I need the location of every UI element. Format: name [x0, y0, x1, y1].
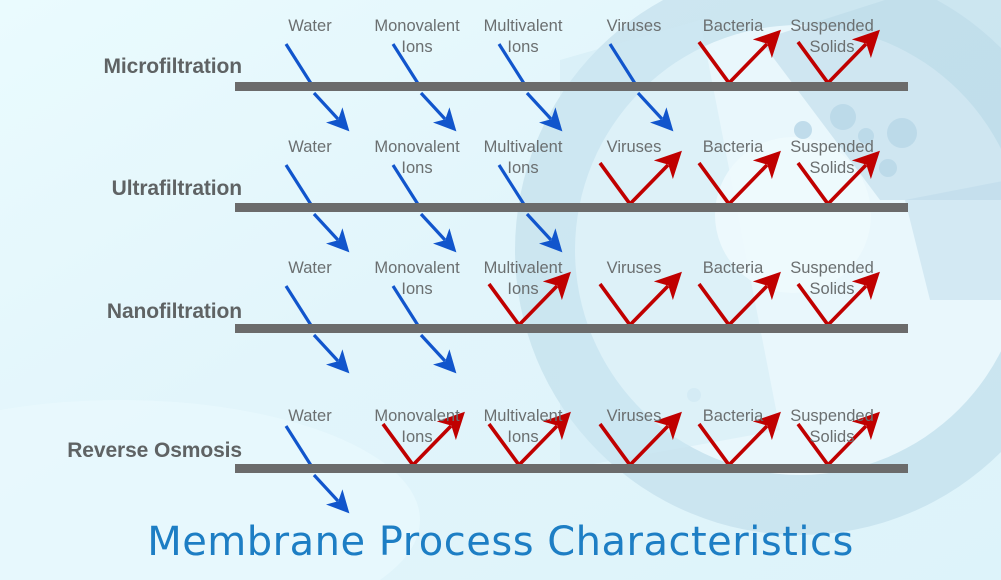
species-label-line2: Ions [374, 279, 459, 300]
species-label-line1: Water [288, 258, 331, 279]
membrane-process-diagram: MicrofiltrationUltrafiltrationNanofiltra… [0, 0, 1001, 580]
species-label-ultrafiltration-suspended-solids: SuspendedSolids [790, 137, 874, 179]
reject-arrow-incoming-nanofiltration-viruses [600, 284, 630, 325]
reject-arrow-outgoing-reverse-osmosis-bacteria [729, 426, 767, 465]
pass-arrow-shaft-in-reverse-osmosis-water [286, 426, 312, 467]
species-label-line1: Viruses [607, 258, 662, 279]
process-label-nanofiltration: Nanofiltration [0, 300, 242, 326]
process-label-text: Reverse Osmosis [67, 439, 242, 463]
process-label-microfiltration: Microfiltration [0, 55, 242, 81]
species-label-line1: Suspended [790, 137, 874, 158]
species-label-line1: Bacteria [703, 16, 764, 37]
species-label-nanofiltration-viruses: Viruses [607, 258, 662, 279]
reject-arrow-incoming-reverse-osmosis-bacteria [699, 424, 729, 465]
species-label-microfiltration-suspended-solids: SuspendedSolids [790, 16, 874, 58]
species-label-line2: Solids [790, 158, 874, 179]
species-label-line1: Multivalent [484, 137, 563, 158]
reject-arrow-incoming-microfiltration-bacteria [699, 42, 729, 83]
species-label-line1: Multivalent [484, 16, 563, 37]
reject-arrow-incoming-reverse-osmosis-viruses [600, 424, 630, 465]
reject-arrow-incoming-ultrafiltration-viruses [600, 163, 630, 204]
pass-arrow-shaft-out-ultrafiltration-monovalent-ions [421, 214, 445, 240]
species-label-line2: Solids [790, 37, 874, 58]
species-label-line2: Ions [374, 37, 459, 58]
process-label-ultrafiltration: Ultrafiltration [0, 177, 242, 203]
reject-arrow-outgoing-nanofiltration-viruses [630, 286, 668, 325]
figure-title: Membrane Process Characteristics [0, 519, 1001, 565]
species-label-ultrafiltration-water: Water [288, 137, 331, 158]
species-label-line1: Multivalent [484, 258, 563, 279]
species-label-line1: Monovalent [374, 406, 459, 427]
species-label-microfiltration-multivalent-ions: MultivalentIons [484, 16, 563, 58]
species-label-line1: Multivalent [484, 406, 563, 427]
species-label-microfiltration-bacteria: Bacteria [703, 16, 764, 37]
species-label-microfiltration-water: Water [288, 16, 331, 37]
species-label-line1: Suspended [790, 258, 874, 279]
reject-arrow-incoming-nanofiltration-bacteria [699, 284, 729, 325]
species-label-nanofiltration-monovalent-ions: MonovalentIons [374, 258, 459, 300]
pass-arrow-shaft-out-microfiltration-monovalent-ions [421, 93, 445, 119]
species-label-line1: Suspended [790, 406, 874, 427]
species-label-line2: Ions [484, 158, 563, 179]
pass-arrow-shaft-out-microfiltration-multivalent-ions [527, 93, 551, 119]
membrane-bar-microfiltration [235, 82, 908, 91]
membrane-bar-nanofiltration [235, 324, 908, 333]
species-label-ultrafiltration-bacteria: Bacteria [703, 137, 764, 158]
species-label-nanofiltration-suspended-solids: SuspendedSolids [790, 258, 874, 300]
species-label-reverse-osmosis-viruses: Viruses [607, 406, 662, 427]
species-label-microfiltration-viruses: Viruses [607, 16, 662, 37]
species-label-line2: Ions [484, 427, 563, 448]
species-label-line1: Viruses [607, 137, 662, 158]
process-label-text: Microfiltration [104, 55, 243, 79]
membrane-bar-reverse-osmosis [235, 464, 908, 473]
process-label-text: Nanofiltration [107, 300, 242, 324]
species-label-line2: Solids [790, 279, 874, 300]
species-label-reverse-osmosis-water: Water [288, 406, 331, 427]
species-label-reverse-osmosis-multivalent-ions: MultivalentIons [484, 406, 563, 448]
species-label-reverse-osmosis-suspended-solids: SuspendedSolids [790, 406, 874, 448]
reject-arrow-outgoing-ultrafiltration-viruses [630, 165, 668, 204]
species-label-line1: Water [288, 16, 331, 37]
species-label-reverse-osmosis-monovalent-ions: MonovalentIons [374, 406, 459, 448]
reject-arrow-outgoing-reverse-osmosis-viruses [630, 426, 668, 465]
reject-arrow-outgoing-ultrafiltration-bacteria [729, 165, 767, 204]
species-label-line1: Water [288, 137, 331, 158]
pass-arrow-shaft-in-ultrafiltration-water [286, 165, 312, 206]
species-label-line1: Bacteria [703, 406, 764, 427]
species-label-line2: Ions [374, 427, 459, 448]
species-label-line1: Water [288, 406, 331, 427]
species-label-line1: Viruses [607, 16, 662, 37]
species-label-line1: Monovalent [374, 16, 459, 37]
process-label-reverse-osmosis: Reverse Osmosis [0, 439, 242, 465]
pass-arrow-shaft-out-nanofiltration-monovalent-ions [421, 335, 445, 361]
species-label-line1: Monovalent [374, 137, 459, 158]
species-label-reverse-osmosis-bacteria: Bacteria [703, 406, 764, 427]
pass-arrow-shaft-out-ultrafiltration-multivalent-ions [527, 214, 551, 240]
species-label-line1: Bacteria [703, 258, 764, 279]
species-label-microfiltration-monovalent-ions: MonovalentIons [374, 16, 459, 58]
species-label-ultrafiltration-viruses: Viruses [607, 137, 662, 158]
species-label-line2: Ions [374, 158, 459, 179]
species-label-ultrafiltration-multivalent-ions: MultivalentIons [484, 137, 563, 179]
species-label-nanofiltration-water: Water [288, 258, 331, 279]
reject-arrow-outgoing-microfiltration-bacteria [729, 44, 767, 83]
pass-arrow-shaft-out-ultrafiltration-water [314, 214, 338, 240]
reject-arrow-outgoing-nanofiltration-bacteria [729, 286, 767, 325]
pass-arrow-shaft-out-reverse-osmosis-water [314, 475, 338, 501]
pass-arrow-shaft-in-nanofiltration-water [286, 286, 312, 327]
species-label-line2: Ions [484, 279, 563, 300]
species-label-line1: Viruses [607, 406, 662, 427]
pass-arrow-shaft-out-microfiltration-viruses [638, 93, 662, 119]
species-label-ultrafiltration-monovalent-ions: MonovalentIons [374, 137, 459, 179]
species-label-line2: Solids [790, 427, 874, 448]
species-label-nanofiltration-multivalent-ions: MultivalentIons [484, 258, 563, 300]
reject-arrow-incoming-ultrafiltration-bacteria [699, 163, 729, 204]
species-label-line1: Bacteria [703, 137, 764, 158]
pass-arrow-shaft-in-microfiltration-viruses [610, 44, 636, 85]
membrane-bar-ultrafiltration [235, 203, 908, 212]
species-label-nanofiltration-bacteria: Bacteria [703, 258, 764, 279]
species-label-line1: Suspended [790, 16, 874, 37]
pass-arrow-shaft-out-microfiltration-water [314, 93, 338, 119]
pass-arrow-shaft-out-nanofiltration-water [314, 335, 338, 361]
process-label-text: Ultrafiltration [112, 177, 242, 201]
pass-arrow-shaft-in-microfiltration-water [286, 44, 312, 85]
species-label-line2: Ions [484, 37, 563, 58]
species-label-line1: Monovalent [374, 258, 459, 279]
